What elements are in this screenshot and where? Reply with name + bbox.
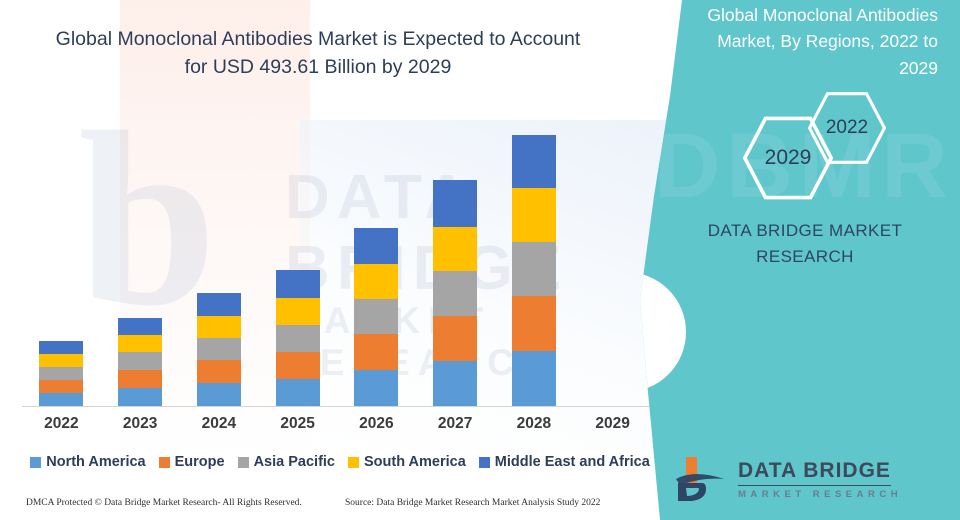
legend-item-europe[interactable]: Europe [159, 454, 225, 470]
panel-title-line3: 2029 [668, 55, 938, 81]
bar-segment[interactable] [39, 393, 83, 406]
bar-segment[interactable] [276, 325, 320, 352]
bar-segment[interactable] [354, 299, 398, 334]
bar-segment[interactable] [118, 335, 162, 352]
legend-label: Asia Pacific [254, 454, 335, 470]
chart-title: Global Monoclonal Antibodies Market is E… [38, 26, 598, 81]
bar-column-2025[interactable] [276, 270, 320, 406]
bar-segment[interactable] [197, 383, 241, 406]
legend-swatch-icon [159, 457, 170, 468]
x-axis-label-2024: 2024 [179, 415, 259, 433]
legend-item-north-america[interactable]: North America [30, 454, 145, 470]
bar-segment[interactable] [118, 352, 162, 370]
x-axis-label-2022: 2022 [21, 415, 101, 433]
x-axis-label-2029: 2029 [573, 415, 653, 433]
bar-segment[interactable] [276, 352, 320, 379]
bar-segment[interactable] [512, 188, 556, 242]
bar-segment[interactable] [276, 379, 320, 406]
x-axis-labels: 20222023202420252026202720282029 [22, 415, 652, 439]
bar-segment[interactable] [433, 180, 477, 227]
bar-segment[interactable] [276, 270, 320, 298]
footer-source-text: Source: Data Bridge Market Research Mark… [345, 498, 600, 508]
x-axis-label-2028: 2028 [494, 415, 574, 433]
bar-segment[interactable] [39, 341, 83, 354]
logo-subtitle: MARKET RESEARCH [738, 489, 902, 500]
bar-segment[interactable] [512, 242, 556, 296]
bar-segment[interactable] [39, 367, 83, 380]
stacked-bar-plot [22, 110, 652, 407]
bar-column-2024[interactable] [197, 293, 241, 406]
data-bridge-logo: DATA BRIDGE MARKET RESEARCH [672, 455, 952, 507]
chart-legend: North AmericaEuropeAsia PacificSouth Ame… [20, 450, 660, 474]
bar-segment[interactable] [118, 388, 162, 406]
bar-segment[interactable] [354, 264, 398, 299]
brand-name: DATA BRIDGE MARKET RESEARCH [660, 218, 950, 269]
legend-swatch-icon [348, 457, 359, 468]
infographic-root: b DATA BRIDGE MARKET RESEARCH Global Mon… [0, 0, 960, 520]
footer: DMCA Protected © Data Bridge Market Rese… [0, 498, 680, 520]
brand-name-line1: DATA BRIDGE MARKET [660, 218, 950, 244]
x-axis-label-2027: 2027 [415, 415, 495, 433]
bar-segment[interactable] [197, 293, 241, 316]
bar-column-2026[interactable] [354, 228, 398, 406]
hexagon-2029: 2029 [743, 116, 833, 200]
panel-arc-notch [640, 272, 686, 392]
x-axis-label-2023: 2023 [100, 415, 180, 433]
bar-segment[interactable] [433, 316, 477, 361]
logo-mark-icon [672, 455, 732, 505]
bar-segment[interactable] [512, 135, 556, 188]
logo-text: DATA BRIDGE MARKET RESEARCH [738, 459, 902, 500]
brand-name-line2: RESEARCH [660, 244, 950, 270]
bar-segment[interactable] [433, 271, 477, 316]
bar-segment[interactable] [354, 228, 398, 264]
legend-label: South America [364, 454, 466, 470]
legend-item-asia-pacific[interactable]: Asia Pacific [238, 454, 335, 470]
bar-segment[interactable] [433, 361, 477, 406]
panel-title-line1: Global Monoclonal Antibodies [668, 2, 938, 28]
hexagon-2029-label: 2029 [743, 116, 833, 200]
bar-segment[interactable] [197, 360, 241, 383]
bar-segment[interactable] [512, 296, 556, 351]
bar-segment[interactable] [39, 380, 83, 393]
x-axis-line [22, 406, 652, 407]
footer-dmca-text: DMCA Protected © Data Bridge Market Rese… [26, 498, 302, 508]
bar-segment[interactable] [197, 316, 241, 338]
chart-panel: b DATA BRIDGE MARKET RESEARCH Global Mon… [0, 0, 680, 520]
bar-segment[interactable] [39, 354, 83, 367]
panel-title-line2: Market, By Regions, 2022 to [668, 28, 938, 54]
logo-title: DATA BRIDGE [738, 459, 891, 486]
bar-column-2023[interactable] [118, 318, 162, 406]
chart-title-line1: Global Monoclonal Antibodies Market is E… [38, 26, 598, 54]
legend-label: Middle East and Africa [495, 454, 650, 470]
legend-swatch-icon [479, 457, 490, 468]
legend-item-south-america[interactable]: South America [348, 454, 466, 470]
chart-title-line2: for USD 493.61 Billion by 2029 [38, 54, 598, 82]
bar-column-2022[interactable] [39, 341, 83, 406]
bar-segment[interactable] [354, 334, 398, 370]
legend-item-middle-east-and-africa[interactable]: Middle East and Africa [479, 454, 650, 470]
legend-label: Europe [175, 454, 225, 470]
brand-panel: DBMR Global Monoclonal Antibodies Market… [640, 0, 960, 520]
panel-title: Global Monoclonal Antibodies Market, By … [668, 2, 938, 81]
bar-column-2028[interactable] [512, 135, 556, 406]
bar-segment[interactable] [512, 351, 556, 406]
legend-swatch-icon [238, 457, 249, 468]
x-axis-label-2025: 2025 [258, 415, 338, 433]
bar-segment[interactable] [197, 338, 241, 360]
hexagon-group: 2022 2029 [640, 92, 960, 202]
bar-segment[interactable] [118, 370, 162, 388]
legend-label: North America [46, 454, 145, 470]
x-axis-label-2026: 2026 [336, 415, 416, 433]
bar-segment[interactable] [354, 370, 398, 406]
bar-segment[interactable] [276, 298, 320, 325]
bar-column-2027[interactable] [433, 180, 477, 406]
legend-swatch-icon [30, 457, 41, 468]
bar-segment[interactable] [118, 318, 162, 335]
bar-segment[interactable] [433, 227, 477, 271]
